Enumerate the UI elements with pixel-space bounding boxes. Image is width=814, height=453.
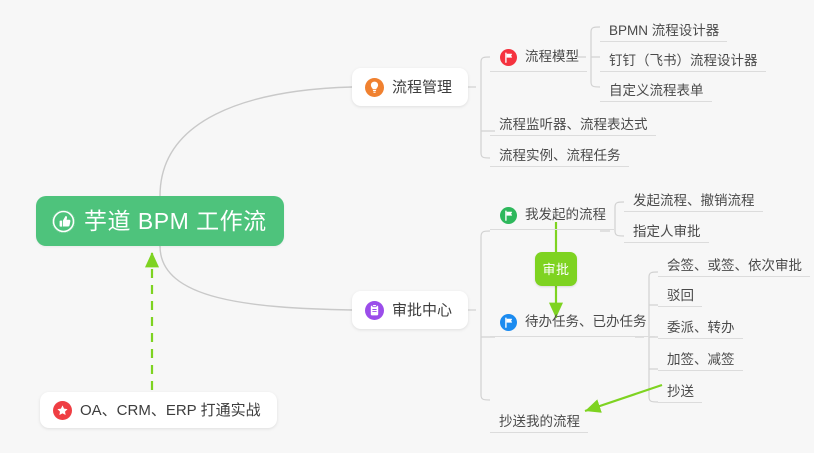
bottom-note-oa-crm-erp[interactable]: OA、CRM、ERP 打通实战 (40, 392, 277, 428)
leaf-add-remove-sign[interactable]: 加签、减签 (658, 341, 743, 371)
callout-label: 审批 (542, 263, 569, 276)
branch-label: 流程管理 (392, 80, 452, 95)
spine-started-bottom-curve (615, 231, 624, 236)
leaf-label: 发起流程、撤销流程 (633, 194, 755, 208)
spine-ac-top-curve (481, 231, 490, 237)
leaf-label: 会签、或签、依次审批 (667, 259, 802, 273)
flag-icon (499, 206, 518, 225)
leaf-custom-form[interactable]: 自定义流程表单 (600, 72, 712, 102)
leaf-reject[interactable]: 驳回 (658, 277, 702, 307)
leaf-label: 我发起的流程 (525, 208, 606, 222)
branch-process-management[interactable]: 流程管理 (352, 68, 468, 106)
leaf-todo-done-task[interactable]: 待办任务、已办任务 (490, 307, 655, 337)
arrow-cc-to-cc-mine (585, 385, 662, 411)
leaf-label: 流程实例、流程任务 (499, 149, 621, 163)
spine-ac-bottom-curve (481, 395, 490, 400)
leaf-carbon-copy[interactable]: 抄送 (658, 373, 702, 403)
flag-icon (499, 313, 518, 332)
branch-label: 审批中心 (392, 303, 452, 318)
leaf-label: 钉钉（飞书）流程设计器 (609, 54, 758, 68)
leaf-process-listener[interactable]: 流程监听器、流程表达式 (490, 106, 656, 136)
leaf-delegate-transfer[interactable]: 委派、转办 (658, 309, 743, 339)
leaf-label: 待办任务、已办任务 (525, 315, 647, 329)
star-icon (53, 401, 72, 420)
leaf-label: 抄送我的流程 (499, 415, 580, 429)
spine-todo-bottom-curve (649, 397, 658, 402)
root-label: 芋道 BPM 工作流 (84, 210, 267, 233)
spine-pm-top-curve (481, 57, 490, 62)
leaf-my-started-process[interactable]: 我发起的流程 (490, 200, 614, 230)
bottom-note-label: OA、CRM、ERP 打通实战 (80, 403, 261, 418)
document-icon (365, 301, 384, 320)
spine-model-bottom-curve (591, 82, 600, 87)
leaf-process-instance[interactable]: 流程实例、流程任务 (490, 137, 629, 167)
leaf-label: 加签、减签 (667, 353, 735, 367)
leaf-label: BPMN 流程设计器 (609, 24, 719, 38)
link-root-to-approval-center (160, 246, 352, 310)
spine-model-top-curve (591, 27, 600, 32)
spine-pm-bottom-curve (481, 153, 490, 158)
link-root-to-process-management (160, 87, 352, 196)
leaf-cc-to-me[interactable]: 抄送我的流程 (490, 403, 588, 433)
spine-todo-top-curve (649, 272, 658, 277)
callout-approval[interactable]: 审批 (535, 252, 577, 286)
leaf-start-cancel-process[interactable]: 发起流程、撤销流程 (624, 182, 763, 212)
thumbs-up-icon (52, 210, 75, 233)
mindmap-canvas: 芋道 BPM 工作流 流程管理 流程模型 BPMN 流程设计器 钉钉（飞书 (0, 0, 814, 453)
leaf-label: 指定人审批 (633, 225, 701, 239)
leaf-countersign[interactable]: 会签、或签、依次审批 (658, 247, 810, 277)
leaf-label: 流程监听器、流程表达式 (499, 118, 648, 132)
leaf-label: 抄送 (667, 385, 694, 399)
root-node[interactable]: 芋道 BPM 工作流 (36, 196, 284, 246)
spine-started-top-curve (615, 202, 624, 207)
leaf-label: 委派、转办 (667, 321, 735, 335)
leaf-label: 流程模型 (525, 50, 579, 64)
flag-icon (499, 48, 518, 67)
leaf-process-model[interactable]: 流程模型 (490, 42, 587, 72)
leaf-label: 驳回 (667, 289, 694, 303)
leaf-label: 自定义流程表单 (609, 84, 704, 98)
leaf-dingtalk-designer[interactable]: 钉钉（飞书）流程设计器 (600, 42, 766, 72)
leaf-bpmn-designer[interactable]: BPMN 流程设计器 (600, 12, 727, 42)
lightbulb-icon (365, 78, 384, 97)
branch-approval-center[interactable]: 审批中心 (352, 291, 468, 329)
leaf-assignee-approval[interactable]: 指定人审批 (624, 213, 709, 243)
